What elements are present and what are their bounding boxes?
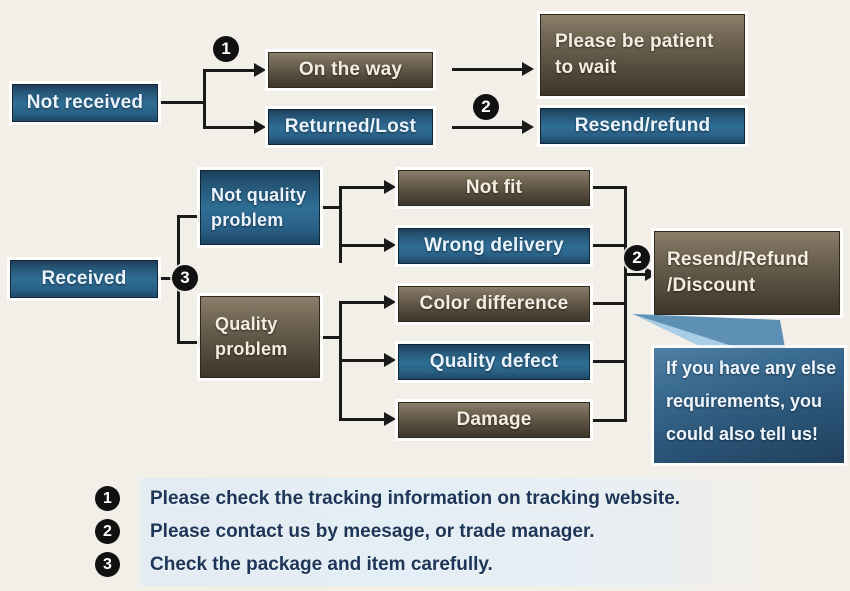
arrowhead-to-color-difference [384,295,396,309]
legend-badge-1-label: 1 [103,490,112,508]
arrowhead-to-wrong-delivery [384,238,396,252]
connector-merge-color-difference [592,302,626,305]
node-not-received[interactable]: Not received [12,84,158,122]
arrowhead-to-not-fit [384,180,396,194]
connector-merge-wrong-delivery [592,244,626,247]
node-quality-line1: Quality [215,314,305,335]
callout-line-3: could also tell us! [666,424,832,445]
node-quality-defect-label: Quality defect [399,351,589,373]
legend-item: 1 Please check the tracking information … [95,482,755,515]
badge-two-middle-label: 2 [632,248,641,268]
node-quality-line2: problem [215,339,305,360]
connector-on-the-way-to-patient [452,68,524,71]
connector-q-to-damage [339,418,387,421]
callout-extra-requirements: If you have any else requirements, you c… [654,348,844,463]
badge-two-middle: 2 [624,245,650,271]
node-damage-label: Damage [399,409,589,431]
connector-returned-to-resend [452,126,524,129]
flowchart-canvas: Not received 1 On the way Returned/Lost … [0,0,850,591]
connector-not-received-stem [160,101,205,104]
arrowhead-to-returned-lost [254,120,266,134]
node-not-quality-line1: Not quality [211,185,309,206]
arrowhead-to-quality-defect [384,353,396,367]
connector-to-on-the-way [203,69,255,72]
node-wrong-delivery[interactable]: Wrong delivery [398,228,590,264]
legend-badge-2: 2 [95,519,120,544]
legend-text-2: Please contact us by meesage, or trade m… [150,521,595,543]
legend-badge-1: 1 [95,486,120,511]
node-returned-lost[interactable]: Returned/Lost [268,109,433,145]
legend-text-1: Please check the tracking information on… [150,488,680,510]
badge-two-top-label: 2 [481,97,490,117]
node-resend-refund[interactable]: Resend/refund [540,108,745,144]
connector-q-to-quality-defect [339,359,387,362]
legend-item: 3 Check the package and item carefully. [95,548,755,581]
callout-line-2: requirements, you [666,391,832,412]
badge-three-middle: 3 [172,265,198,291]
badge-three-middle-label: 3 [180,268,189,288]
node-on-the-way-label: On the way [269,59,432,81]
arrowhead-to-damage [384,412,396,426]
node-received[interactable]: Received [10,260,158,298]
connector-nq-split [339,186,342,263]
node-not-received-label: Not received [13,92,157,114]
arrowhead-to-patient [522,62,534,76]
node-returned-lost-label: Returned/Lost [269,116,432,138]
node-please-be-patient-line2: to wait [555,57,730,79]
node-resend-refund-discount[interactable]: Resend/Refund /Discount [654,231,840,315]
node-please-be-patient-line1: Please be patient [555,31,730,53]
node-please-be-patient[interactable]: Please be patient to wait [540,14,745,96]
connector-not-received-split [203,69,206,129]
node-quality-problem[interactable]: Quality problem [200,296,320,378]
legend-badge-3-label: 3 [103,556,112,574]
node-color-difference-label: Color difference [399,293,589,315]
connector-merge-spine [624,186,627,422]
badge-two-top: 2 [473,94,499,120]
node-color-difference[interactable]: Color difference [398,286,590,322]
callout-line-1: If you have any else [666,358,832,379]
legend: 1 Please check the tracking information … [95,482,755,581]
badge-one-top: 1 [213,36,239,62]
connector-merge-quality-defect [592,360,626,363]
node-quality-defect[interactable]: Quality defect [398,344,590,380]
node-received-label: Received [11,268,157,290]
node-wrong-delivery-label: Wrong delivery [399,235,589,257]
node-resend-refund-discount-line2: /Discount [667,275,827,297]
connector-nq-to-not-fit [339,186,387,189]
legend-item: 2 Please contact us by meesage, or trade… [95,515,755,548]
connector-merge-not-fit [592,186,626,189]
node-damage[interactable]: Damage [398,402,590,438]
node-not-fit-label: Not fit [399,177,589,199]
badge-one-top-label: 1 [221,39,230,59]
connector-merge-damage [592,419,626,422]
connector-q-to-color-difference [339,301,387,304]
node-not-quality-problem[interactable]: Not quality problem [200,170,320,245]
arrowhead-to-on-the-way [254,63,266,77]
node-resend-refund-label: Resend/refund [541,115,744,137]
connector-to-returned-lost [203,126,255,129]
legend-badge-3: 3 [95,552,120,577]
legend-badge-2-label: 2 [103,523,112,541]
legend-text-3: Check the package and item carefully. [150,554,493,576]
arrowhead-to-resend-refund [522,120,534,134]
node-on-the-way[interactable]: On the way [268,52,433,88]
node-not-fit[interactable]: Not fit [398,170,590,206]
connector-nq-to-wrong-delivery [339,244,387,247]
node-resend-refund-discount-line1: Resend/Refund [667,249,827,271]
node-not-quality-line2: problem [211,210,309,231]
